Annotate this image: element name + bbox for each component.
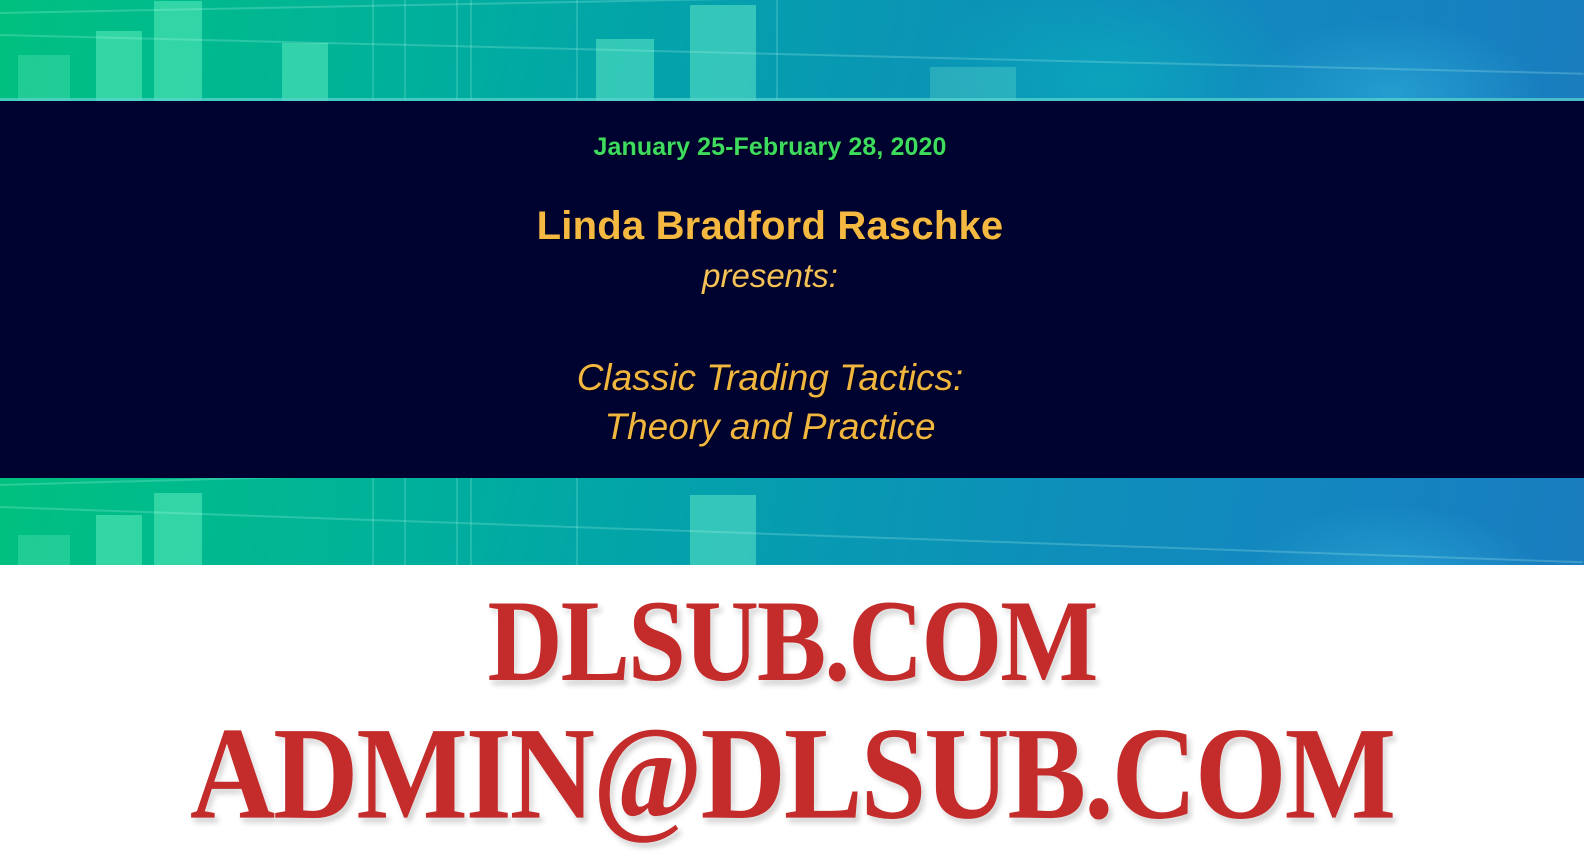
grid-line [576, 478, 578, 565]
event-date: January 25-February 28, 2020 [0, 133, 1540, 162]
grid-line [372, 478, 374, 565]
grid-line [470, 0, 472, 101]
chart-bar [154, 493, 202, 565]
trend-line [0, 478, 1583, 486]
title-slide: January 25-February 28, 2020 Linda Bradf… [0, 0, 1584, 864]
trend-line [0, 34, 1584, 75]
chart-bar [96, 31, 142, 101]
chart-bar [930, 67, 1016, 101]
speaker-name: Linda Bradford Raschke [0, 204, 1540, 249]
watermark-site: DLSUB.COM [0, 557, 1584, 708]
watermark-area: DLSUB.COM ADMIN@DLSUB.COM [0, 565, 1584, 864]
banner-top [0, 0, 1584, 101]
talk-title-line-2: Theory and Practice [0, 402, 1540, 451]
grid-line [456, 0, 458, 101]
chart-bar [18, 55, 70, 101]
presents-label: presents: [0, 257, 1540, 295]
chart-bar [282, 43, 328, 101]
title-block: January 25-February 28, 2020 Linda Bradf… [0, 101, 1540, 451]
grid-line [776, 0, 778, 101]
title-band: January 25-February 28, 2020 Linda Bradf… [0, 101, 1584, 478]
talk-title: Classic Trading Tactics: Theory and Prac… [0, 353, 1540, 451]
blue-glow [1244, 18, 1544, 101]
banner-bottom [0, 478, 1584, 565]
grid-line [404, 0, 406, 101]
grid-line [576, 0, 578, 101]
chart-bar [154, 1, 202, 101]
trend-line [0, 506, 1583, 563]
talk-title-line-1: Classic Trading Tactics: [0, 353, 1540, 402]
watermark-email: ADMIN@DLSUB.COM [0, 698, 1584, 850]
grid-line [372, 0, 374, 101]
trend-line [0, 0, 1584, 14]
